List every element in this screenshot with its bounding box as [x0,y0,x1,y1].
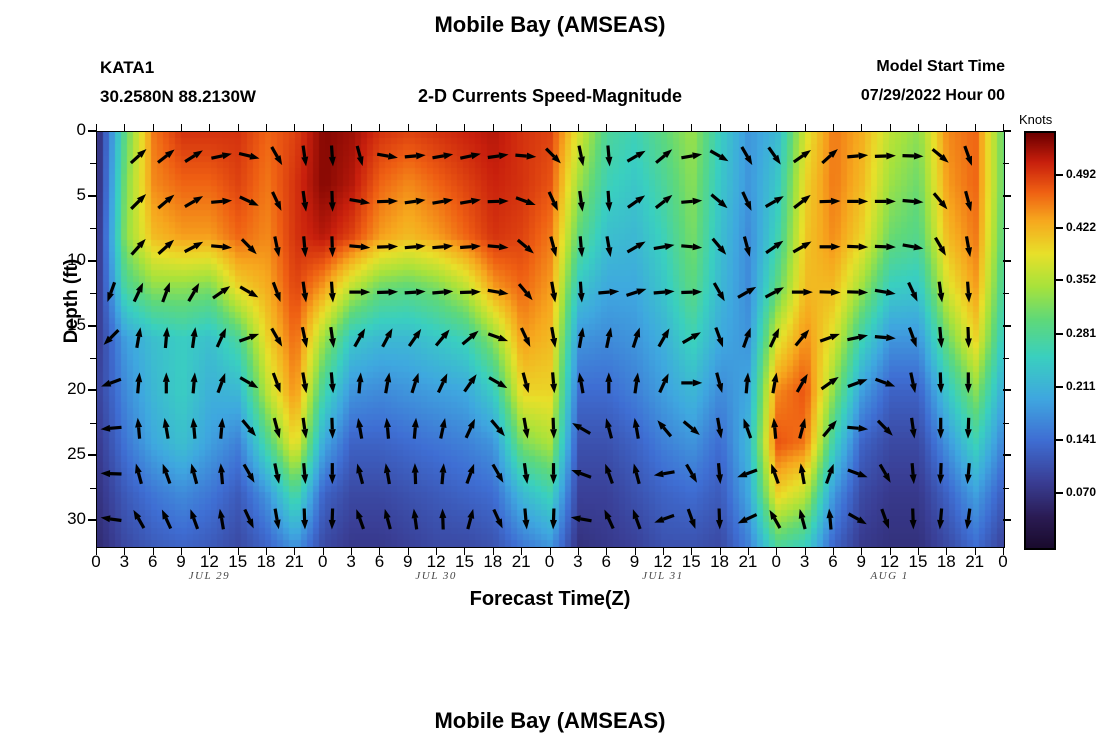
x-tick-top [578,124,579,132]
x-tick-top [805,124,806,132]
colorbar-tick [1054,439,1063,441]
x-tick-top [464,124,465,132]
y-tick-minor [90,488,96,489]
y-tick-major-right [1003,454,1011,456]
heatmap-plot-area [96,131,1005,548]
x-day-label: AUG 1 [830,570,950,582]
page-title: Mobile Bay (AMSEAS) [0,12,1100,38]
x-tick-label: 0 [983,552,1023,572]
y-tick-minor-right [1003,488,1009,489]
colorbar-tick-label: 0.281 [1066,326,1100,340]
y-tick-minor-right [1003,163,1009,164]
colorbar-tick [1054,279,1063,281]
colorbar-tick-label: 0.422 [1066,220,1100,234]
y-tick-label: 25 [42,444,86,464]
y-tick-major-right [1003,389,1011,391]
y-tick-label: 20 [42,379,86,399]
y-tick-minor [90,423,96,424]
model-start-time-value: 07/29/2022 Hour 00 [700,87,1005,105]
y-tick-minor-right [1003,228,1009,229]
x-tick-top [748,124,749,132]
x-tick-top [606,124,607,132]
x-tick-top [720,124,721,132]
x-day-label: JUL 30 [376,570,496,582]
y-tick-minor-right [1003,358,1009,359]
colorbar-tick [1054,174,1063,176]
colorbar-tick [1054,492,1063,494]
colorbar-title: Knots [1019,112,1052,127]
footer-title: Mobile Bay (AMSEAS) [0,708,1100,734]
y-tick-major [88,195,96,197]
y-tick-major [88,130,96,132]
x-tick-top [153,124,154,132]
x-tick-top [379,124,380,132]
colorbar-tick [1054,227,1063,229]
x-tick-top [436,124,437,132]
y-tick-major [88,389,96,391]
y-tick-label: 15 [42,315,86,335]
y-axis-title: Depth (ft) [61,221,83,381]
current-speed-heatmap [97,132,1004,547]
y-tick-label: 30 [42,509,86,529]
y-tick-major [88,260,96,262]
y-tick-minor [90,293,96,294]
colorbar-tick [1054,333,1063,335]
y-tick-label: 0 [42,120,86,140]
colorbar-tick [1054,386,1063,388]
x-tick-top [691,124,692,132]
x-tick-top [521,124,522,132]
y-tick-major-right [1003,260,1011,262]
x-day-label: JUL 29 [149,570,269,582]
x-tick-top [1003,124,1004,132]
x-tick-top [946,124,947,132]
colorbar-gradient [1026,133,1054,548]
x-tick-top [493,124,494,132]
x-tick-top [776,124,777,132]
x-tick-top [918,124,919,132]
x-tick-top [550,124,551,132]
station-id: KATA1 [100,58,154,78]
colorbar-tick-label: 0.211 [1066,379,1100,393]
y-tick-major-right [1003,519,1011,521]
x-tick-top [408,124,409,132]
x-tick-top [890,124,891,132]
x-tick-top [124,124,125,132]
y-tick-label: 10 [42,250,86,270]
y-tick-major [88,325,96,327]
y-tick-major-right [1003,325,1011,327]
x-tick-top [266,124,267,132]
colorbar-tick-label: 0.141 [1066,432,1100,446]
x-tick-top [323,124,324,132]
x-tick-top [833,124,834,132]
y-tick-minor [90,228,96,229]
x-tick-top [663,124,664,132]
x-tick-top [975,124,976,132]
colorbar-tick-label: 0.492 [1066,167,1100,181]
y-tick-minor-right [1003,293,1009,294]
x-tick-top [635,124,636,132]
y-tick-major [88,519,96,521]
x-tick-top [209,124,210,132]
y-tick-minor [90,163,96,164]
x-tick-top [294,124,295,132]
x-axis-title: Forecast Time(Z) [0,588,1100,611]
x-tick-top [351,124,352,132]
y-tick-major [88,454,96,456]
x-day-label: JUL 31 [603,570,723,582]
x-tick-top [181,124,182,132]
y-tick-label: 5 [42,185,86,205]
colorbar [1024,131,1056,550]
x-tick-top [96,124,97,132]
y-tick-major-right [1003,130,1011,132]
x-tick-top [861,124,862,132]
y-tick-minor [90,358,96,359]
x-tick-top [238,124,239,132]
y-tick-minor-right [1003,423,1009,424]
model-start-time-label: Model Start Time [700,58,1005,76]
colorbar-tick-label: 0.352 [1066,272,1100,286]
y-tick-major-right [1003,195,1011,197]
colorbar-tick-label: 0.070 [1066,485,1100,499]
